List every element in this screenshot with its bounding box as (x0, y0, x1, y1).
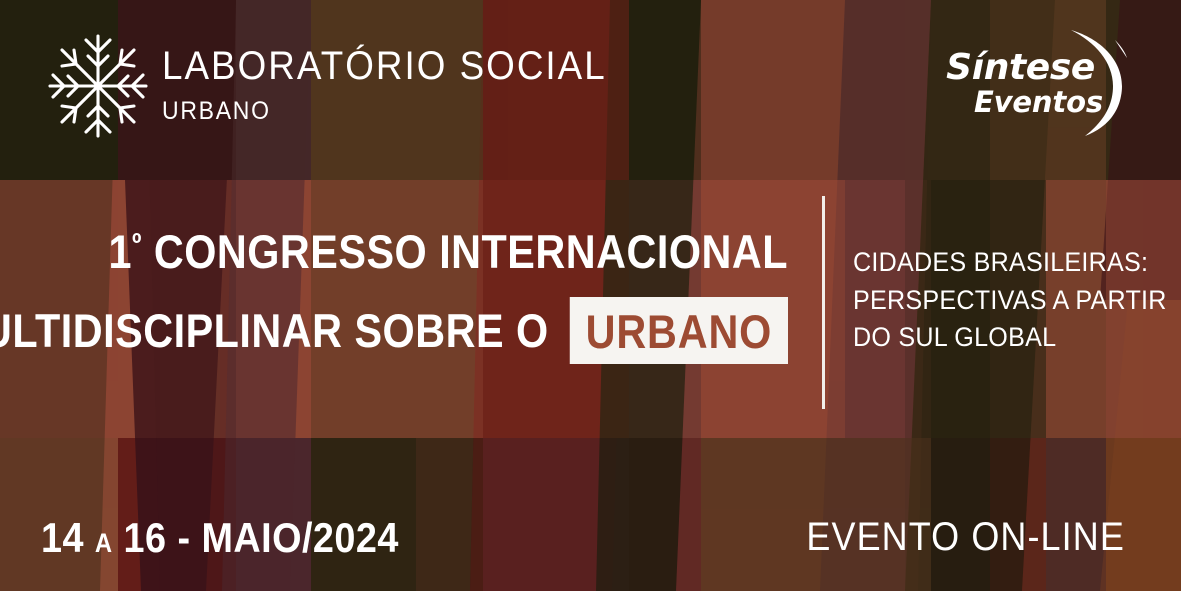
lab-logo-line2: URBANO (162, 99, 607, 124)
sintese-line2: Eventos (974, 88, 1103, 117)
subtitle-line-1: CIDADES BRASILEIRAS: (853, 244, 1141, 282)
event-date: 14 A 16 - MAIO/2024 (41, 517, 399, 559)
date-day-start: 14 (41, 514, 84, 561)
sintese-eventos-logo: Síntese Eventos (963, 26, 1133, 136)
event-title-line1: 1º CONGRESSO INTERNACIONAL (95, 228, 788, 275)
lab-logo-wordmark: LABORATÓRIO SOCIAL URBANO (162, 46, 645, 124)
urbano-highlight-badge: URBANO (570, 297, 788, 364)
sintese-line1: Síntese (946, 50, 1095, 86)
ordinal-mark: º (132, 228, 142, 260)
event-subtitle: CIDADES BRASILEIRAS: PERSPECTIVAS A PART… (853, 244, 1163, 357)
subtitle-line-3: DO SUL GLOBAL (853, 319, 1141, 357)
subtitle-line-2: PERSPECTIVAS A PARTIR (853, 282, 1141, 320)
vertical-divider (822, 196, 825, 409)
event-title-block: 1º CONGRESSO INTERNACIONAL MULTIDISCIPLI… (0, 228, 806, 364)
lab-logo-line1: LABORATÓRIO SOCIAL (162, 46, 607, 86)
event-banner: LABORATÓRIO SOCIAL URBANO Síntese Evento… (0, 0, 1181, 591)
event-title-line2: MULTIDISCIPLINAR SOBRE O (0, 307, 549, 354)
event-modality: EVENTO ON-LINE (806, 517, 1125, 557)
laboratorio-social-urbano-logo: LABORATÓRIO SOCIAL URBANO (44, 28, 645, 140)
banner-header: LABORATÓRIO SOCIAL URBANO Síntese Evento… (0, 0, 1181, 180)
snowflake-asterisk-icon (44, 28, 152, 140)
date-connector: A (95, 528, 113, 558)
ordinal-number: 1 (109, 225, 133, 278)
event-title-line1-rest: CONGRESSO INTERNACIONAL (142, 225, 788, 278)
event-title-line2-row: MULTIDISCIPLINAR SOBRE O URBANO (95, 297, 788, 364)
date-day-end-month: 16 - MAIO/2024 (124, 514, 399, 561)
